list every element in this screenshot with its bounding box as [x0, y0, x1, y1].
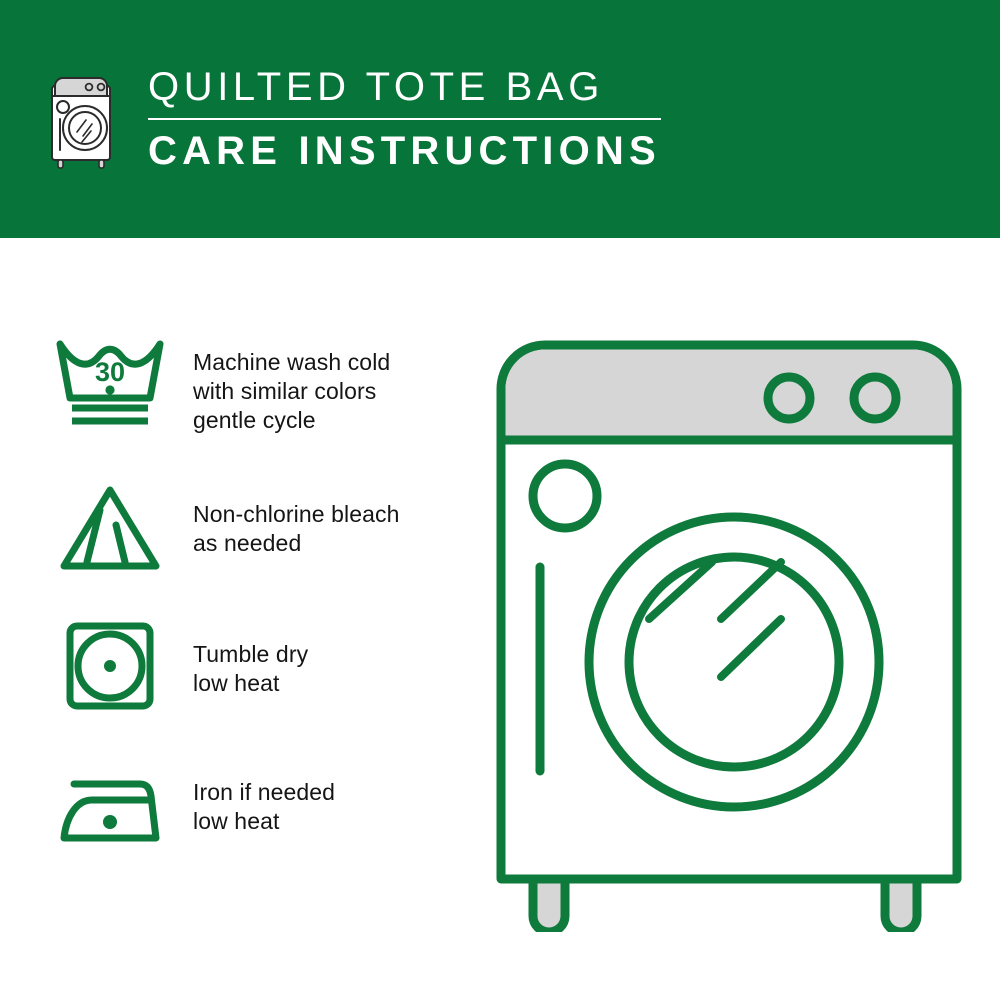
care-instructions-list: 30 Machine wash cold with similar colors… [45, 336, 475, 896]
care-text-iron: Iron if needed low heat [175, 756, 335, 836]
care-text-tumble-dry: Tumble dry low heat [175, 616, 308, 698]
care-line: as needed [193, 529, 399, 558]
control-panel [506, 350, 953, 441]
title-divider [148, 118, 661, 120]
title-block: QUILTED TOTE BAG CARE INSTRUCTIONS [148, 62, 661, 174]
care-row-iron: Iron if needed low heat [45, 756, 475, 896]
washing-machine-illustration [489, 334, 969, 932]
care-line: Machine wash cold [193, 348, 390, 377]
page-subtitle: CARE INSTRUCTIONS [148, 128, 661, 174]
care-text-machine-wash: Machine wash cold with similar colors ge… [175, 336, 390, 435]
care-line: Non-chlorine bleach [193, 500, 399, 529]
page-title: QUILTED TOTE BAG [148, 64, 661, 110]
header-banner: QUILTED TOTE BAG CARE INSTRUCTIONS [0, 0, 1000, 238]
non-chlorine-bleach-icon [45, 476, 175, 576]
care-row-bleach: Non-chlorine bleach as needed [45, 476, 475, 616]
care-line: low heat [193, 669, 308, 698]
leg-right [885, 879, 917, 932]
washing-machine-icon [44, 66, 126, 170]
care-row-tumble-dry: Tumble dry low heat [45, 616, 475, 756]
tumble-dry-low-icon [45, 616, 175, 718]
care-text-bleach: Non-chlorine bleach as needed [175, 476, 399, 558]
leg-left [533, 879, 565, 932]
iron-low-heat-icon [45, 756, 175, 862]
care-line: Iron if needed [193, 778, 335, 807]
header-content: QUILTED TOTE BAG CARE INSTRUCTIONS [44, 62, 661, 174]
care-line: with similar colors [193, 377, 390, 406]
indicator-light [533, 464, 597, 528]
care-instructions-infographic: QUILTED TOTE BAG CARE INSTRUCTIONS 30 [0, 0, 1000, 1000]
machine-wash-30-gentle-icon: 30 [45, 336, 175, 432]
care-row-machine-wash: 30 Machine wash cold with similar colors… [45, 336, 475, 476]
care-line: gentle cycle [193, 406, 390, 435]
care-line: Tumble dry [193, 640, 308, 669]
care-line: low heat [193, 807, 335, 836]
svg-text:30: 30 [95, 357, 125, 387]
